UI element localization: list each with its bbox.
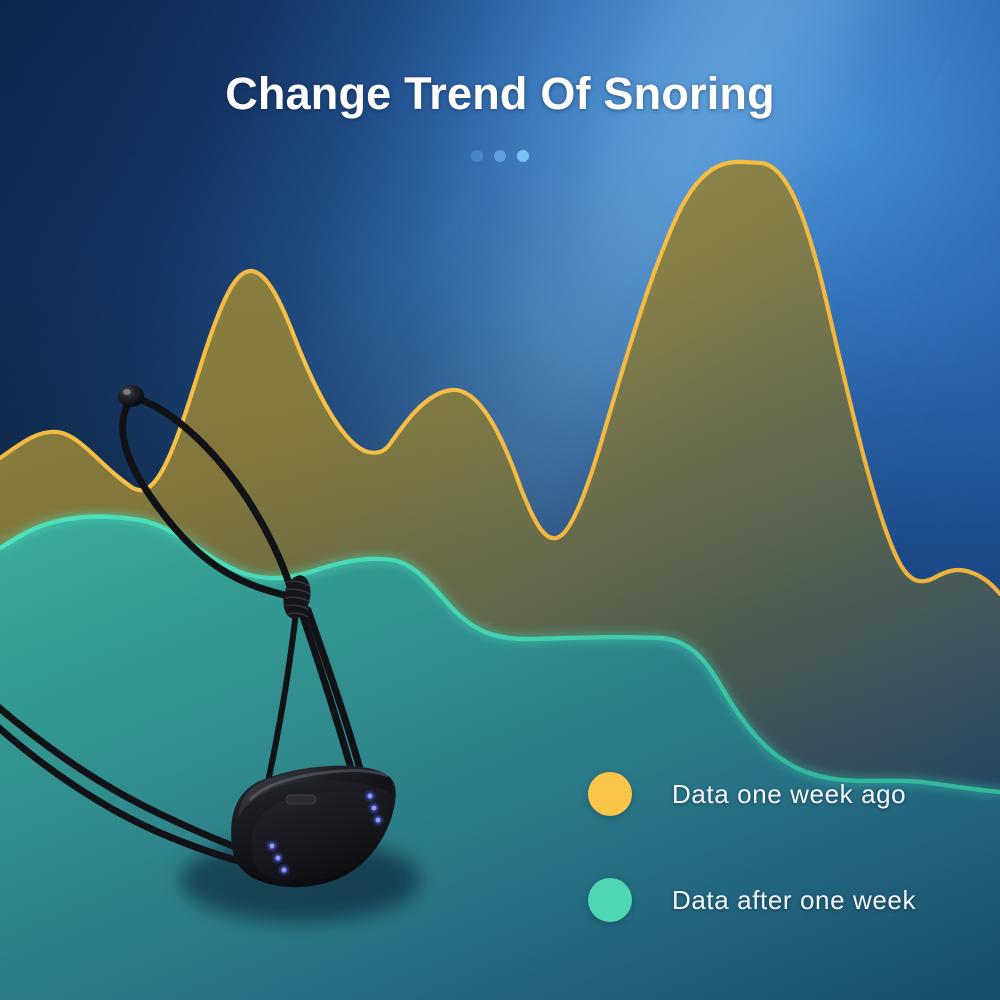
legend-label-after-one-week: Data after one week bbox=[672, 885, 916, 916]
legend-item-one-week-ago[interactable]: Data one week ago bbox=[588, 772, 916, 816]
chart-legend: Data one week ago Data after one week bbox=[588, 772, 916, 922]
legend-dot-teal-icon bbox=[588, 878, 632, 922]
legend-dot-yellow-icon bbox=[588, 772, 632, 816]
promo-graphic: Change Trend Of Snoring Data one week ag… bbox=[0, 0, 1000, 1000]
legend-label-one-week-ago: Data one week ago bbox=[672, 779, 906, 810]
legend-item-after-one-week[interactable]: Data after one week bbox=[588, 878, 916, 922]
